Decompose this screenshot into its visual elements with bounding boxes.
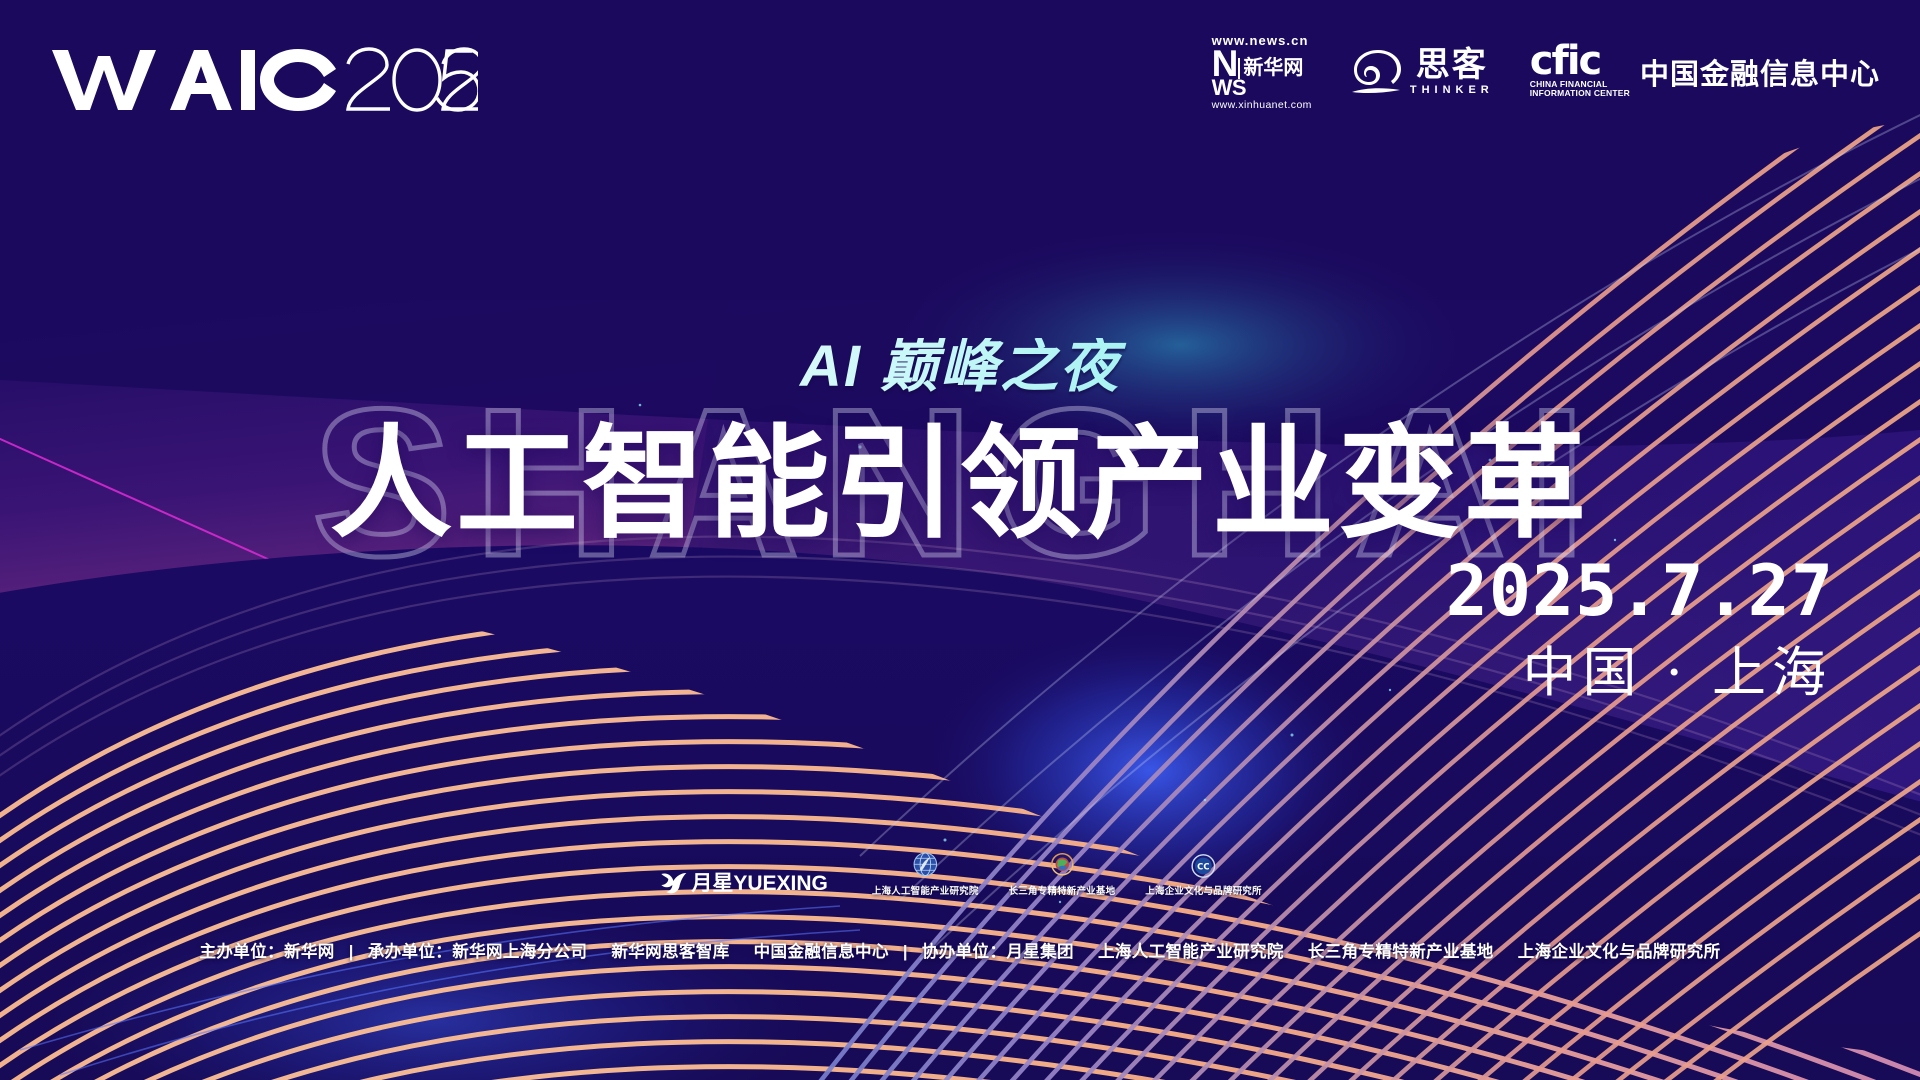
footer-host: 主办单位：新华网 <box>200 943 335 961</box>
footer-separator-1: | <box>340 943 363 962</box>
xinhuanet-url-bottom: www.xinhuanet.com <box>1212 100 1312 111</box>
thinker-swirl-icon <box>1348 44 1404 100</box>
cfic-cn-label: 中国金融信息中心 <box>1640 51 1880 93</box>
partner-brand-institute: CC 上海企业文化与品牌研究所 <box>1145 852 1261 897</box>
partner-yrd-base-label: 长三角专精特新产业基地 <box>1009 883 1116 897</box>
header-logo-row: www.news.cn N 新华网 WS www.xinhuanet.com <box>1212 34 1880 110</box>
cfic-wordmark: cfic <box>1530 45 1601 78</box>
partner-yuexing: 月星YUEXING <box>658 867 828 897</box>
yuexing-bird-icon <box>658 867 688 897</box>
thinker-logo: 思客 THINKER <box>1348 34 1494 110</box>
footer-separator-2: | <box>894 943 917 962</box>
footer-coorganizer: 协办单位：月星集团 <box>922 943 1074 961</box>
footer-organizer-2: 新华网思客智库 <box>611 943 729 961</box>
partner-shanghai-ai-institute: 上海人工智能产业研究院 <box>872 850 979 897</box>
footer-coorganizer-4: 上海企业文化与品牌研究所 <box>1518 943 1721 961</box>
hero-headline: 人工智能引领产业变革 <box>0 420 1920 549</box>
cfic-logo: cfic CHINA FINANCIAL INFORMATION CENTER … <box>1530 34 1880 110</box>
poster-canvas: www.news.cn N 新华网 WS www.xinhuanet.com <box>0 0 1920 1080</box>
globe-icon <box>910 850 940 880</box>
circle-seal-icon: CC <box>1189 852 1217 880</box>
event-place: 中国 · 上海 <box>1523 646 1833 700</box>
hero-subtitle: AI 巅峰之夜 <box>0 338 1920 396</box>
partner-logo-strip: 月星YUEXING 上海人工智能产业研究院 <box>658 850 1261 897</box>
footer-organizer: 承办单位：新华网上海分公司 <box>368 943 588 961</box>
event-date: 2025.7.27 <box>1446 556 1834 626</box>
globe-sphere-icon <box>1047 850 1077 880</box>
thinker-en-label: THINKER <box>1410 84 1494 96</box>
waic-logo <box>48 36 478 114</box>
svg-text:CC: CC <box>1197 862 1209 872</box>
footer-coorganizer-2: 上海人工智能产业研究院 <box>1098 943 1284 961</box>
xinhuanet-logo: www.news.cn N 新华网 WS www.xinhuanet.com <box>1212 34 1312 110</box>
partner-yrd-base: 长三角专精特新产业基地 <box>1009 850 1116 897</box>
partner-shanghai-ai-institute-label: 上海人工智能产业研究院 <box>872 883 979 897</box>
thinker-cn-label: 思客 <box>1416 48 1488 82</box>
partner-brand-institute-label: 上海企业文化与品牌研究所 <box>1145 883 1261 897</box>
cfic-sub-line2: INFORMATION CENTER <box>1530 89 1630 99</box>
partner-yuexing-label: 月星YUEXING <box>691 867 828 897</box>
xinhuanet-mark-cn: 新华网 <box>1238 58 1303 79</box>
footer-coorganizer-3: 长三角专精特新产业基地 <box>1308 943 1494 961</box>
footer-credits: 主办单位：新华网 | 承办单位：新华网上海分公司 新华网思客智库 中国金融信息中… <box>0 938 1920 962</box>
footer-organizer-3: 中国金融信息中心 <box>754 943 889 961</box>
xinhuanet-mark-ws: WS <box>1212 79 1246 98</box>
